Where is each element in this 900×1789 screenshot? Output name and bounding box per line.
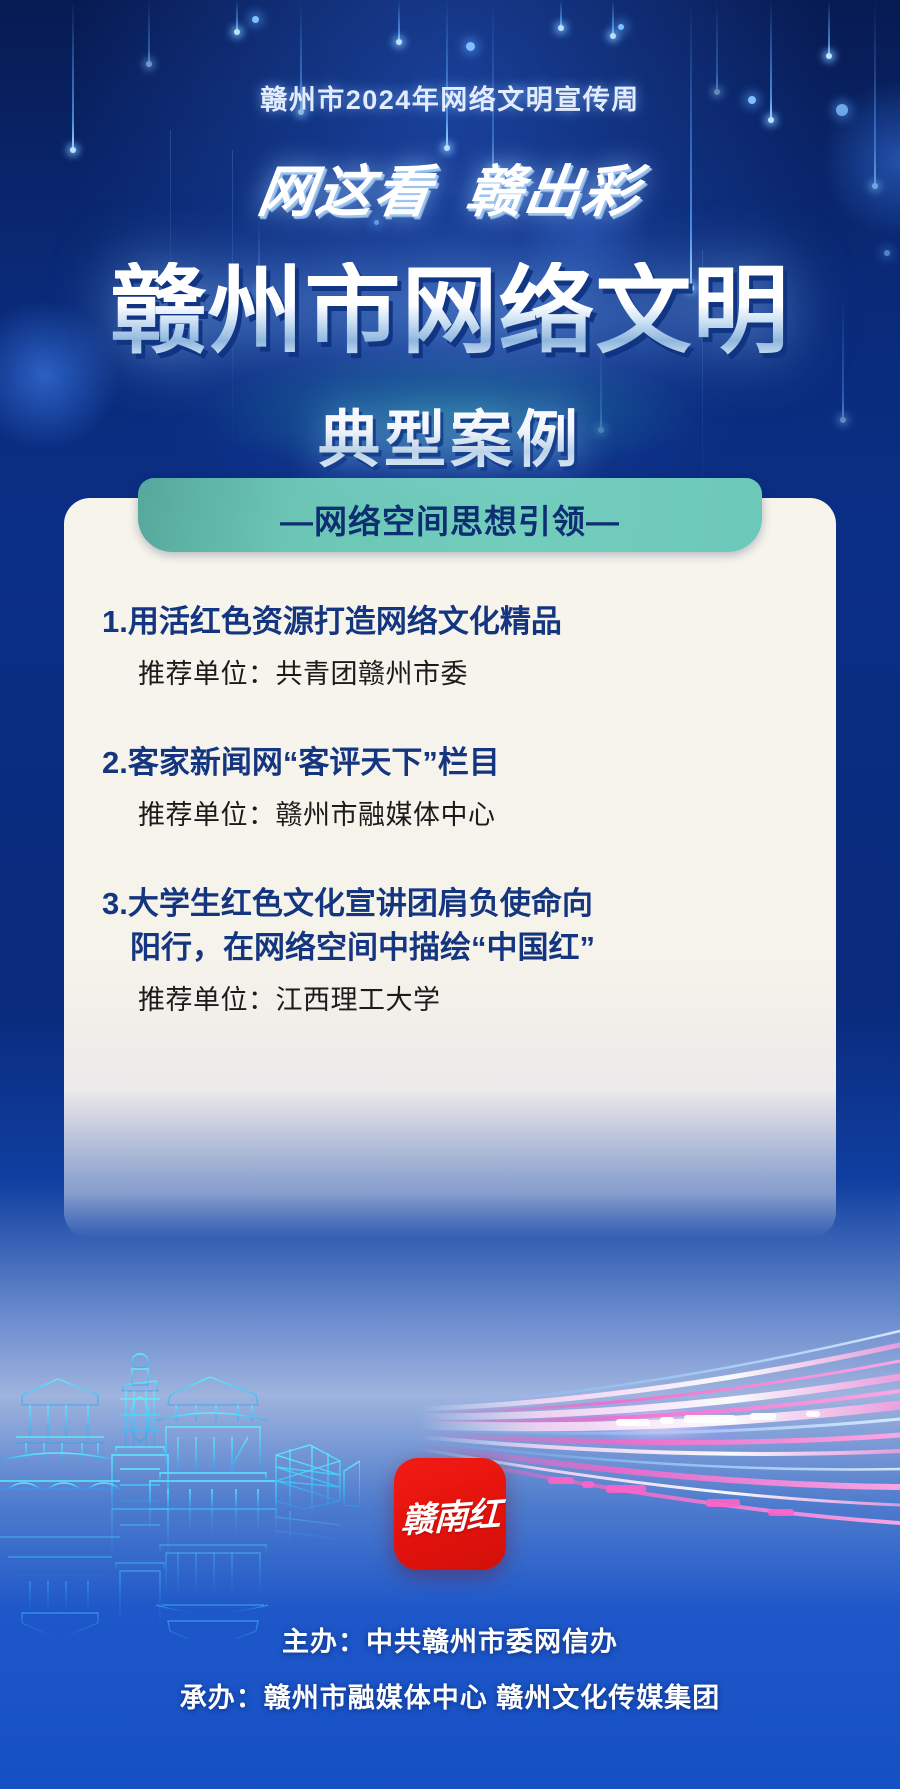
case-title-line: 2.客家新闻网“客评天下”栏目 xyxy=(102,745,500,780)
seal-label: 赣南红 xyxy=(400,1486,500,1542)
case-title: 3.大学生红色文化宣讲团肩负使命向 阳行，在网络空间中描绘“中国红” xyxy=(102,882,798,970)
case-list: 1.用活红色资源打造网络文化精品 推荐单位：共青团赣州市委 2.客家新闻网“客评… xyxy=(64,600,836,1017)
ganzhou-skyline-wireframe xyxy=(0,1209,360,1639)
case-org: 推荐单位：共青团赣州市委 xyxy=(138,652,798,691)
ganzhou-red-seal-logo: 赣南红 xyxy=(394,1458,506,1570)
section-banner: —网络空间思想引领— xyxy=(138,478,762,552)
list-item: 3.大学生红色文化宣讲团肩负使命向 阳行，在网络空间中描绘“中国红” 推荐单位：… xyxy=(102,882,798,1017)
case-title: 2.客家新闻网“客评天下”栏目 xyxy=(102,741,798,785)
case-title-line: 1.用活红色资源打造网络文化精品 xyxy=(102,604,562,639)
poster-footer: 主办：中共赣州市委网信办 承办：赣州市融媒体中心 赣州文化传媒集团 xyxy=(0,1620,900,1715)
case-org: 推荐单位：江西理工大学 xyxy=(138,978,798,1017)
page-subtitle: 典型案例 xyxy=(0,389,900,479)
list-item: 1.用活红色资源打造网络文化精品 推荐单位：共青团赣州市委 xyxy=(102,600,798,691)
case-title: 1.用活红色资源打造网络文化精品 xyxy=(102,600,798,644)
case-org: 推荐单位：赣州市融媒体中心 xyxy=(138,793,798,832)
slogan-text: 网这看赣出彩 xyxy=(0,147,900,228)
footer-coorganizer: 承办：赣州市融媒体中心 赣州文化传媒集团 xyxy=(0,1676,900,1715)
slogan-left: 网这看 xyxy=(254,160,437,223)
page-title: 赣州市网络文明 xyxy=(0,262,900,363)
kicker-text: 赣州市2024年网络文明宣传周 xyxy=(0,78,900,117)
section-banner-label: —网络空间思想引领— xyxy=(280,495,620,543)
list-item: 2.客家新闻网“客评天下”栏目 推荐单位：赣州市融媒体中心 xyxy=(102,741,798,832)
slogan-right: 赣出彩 xyxy=(462,160,645,223)
case-title-line-2: 阳行，在网络空间中描绘“中国红” xyxy=(102,926,798,970)
poster-header: 赣州市2024年网络文明宣传周 网这看赣出彩 赣州市网络文明 典型案例 xyxy=(0,78,900,479)
poster-root: 赣州市2024年网络文明宣传周 网这看赣出彩 赣州市网络文明 典型案例 —网络空… xyxy=(0,0,900,1789)
case-title-line: 3.大学生红色文化宣讲团肩负使命向 xyxy=(102,886,593,921)
footer-organizer: 主办：中共赣州市委网信办 xyxy=(0,1620,900,1659)
